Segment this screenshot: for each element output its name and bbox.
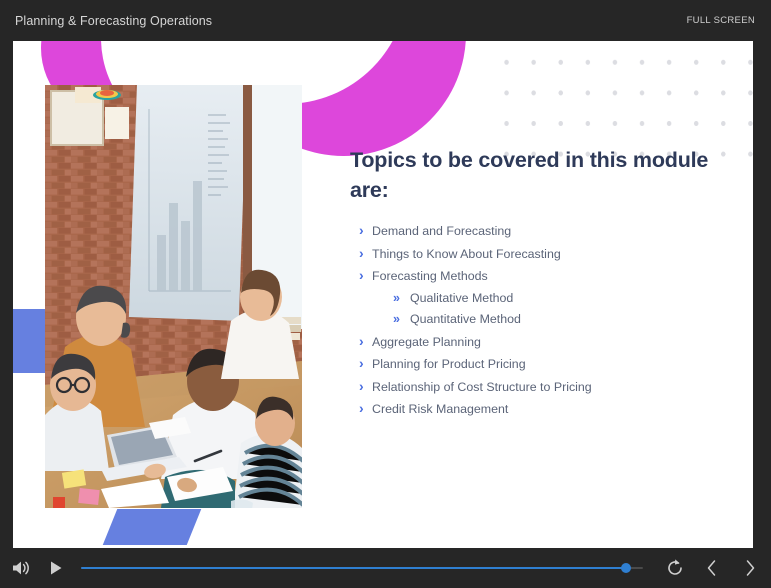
page-title: Planning & Forecasting Operations xyxy=(15,14,212,28)
progress-fill xyxy=(81,567,626,570)
list-item-label: Planning for Product Pricing xyxy=(372,357,526,372)
replay-icon[interactable] xyxy=(663,556,687,580)
player-control-bar xyxy=(0,548,771,588)
slide-title: Topics to be covered in this module are: xyxy=(350,145,720,205)
list-item-label: Aggregate Planning xyxy=(372,335,481,350)
progress-handle[interactable] xyxy=(621,563,631,573)
list-item-label: Demand and Forecasting xyxy=(372,224,511,239)
list-item-label: Quantitative Method xyxy=(410,312,521,327)
double-chevron-right-icon: » xyxy=(384,291,410,306)
fullscreen-button[interactable]: FULL SCREEN xyxy=(687,15,755,26)
list-item-label: Qualitative Method xyxy=(410,291,513,306)
blue-rectangle-decoration xyxy=(13,309,45,373)
chevron-right-icon: › xyxy=(350,356,372,371)
chevron-right-icon: › xyxy=(350,268,372,283)
player-top-bar: Planning & Forecasting Operations FULL S… xyxy=(0,0,771,41)
chevron-right-icon: › xyxy=(350,334,372,349)
list-item-sub: » Quantitative Method xyxy=(384,312,720,327)
list-item: › Forecasting Methods xyxy=(350,268,720,284)
chevron-right-icon: › xyxy=(350,246,372,261)
list-item-label: Credit Risk Management xyxy=(372,402,508,417)
list-item: › Demand and Forecasting xyxy=(350,223,720,239)
double-chevron-right-icon: » xyxy=(384,312,410,327)
list-item: › Credit Risk Management xyxy=(350,401,720,417)
chevron-right-icon: › xyxy=(350,223,372,238)
play-button[interactable] xyxy=(45,557,67,579)
list-item: › Relationship of Cost Structure to Pric… xyxy=(350,379,720,395)
slide-content: Topics to be covered in this module are:… xyxy=(350,145,720,424)
topics-list: › Demand and Forecasting › Things to Kno… xyxy=(350,223,720,417)
chevron-right-icon[interactable] xyxy=(739,556,761,580)
course-player: Planning & Forecasting Operations FULL S… xyxy=(0,0,771,588)
list-item-label: Things to Know About Forecasting xyxy=(372,247,561,262)
slide-canvas: Topics to be covered in this module are:… xyxy=(13,41,753,548)
list-item: › Planning for Product Pricing xyxy=(350,356,720,372)
chevron-left-icon[interactable] xyxy=(701,556,723,580)
list-item-sub: » Qualitative Method xyxy=(384,291,720,306)
photo-illustration xyxy=(45,85,302,508)
progress-slider[interactable] xyxy=(81,560,643,576)
list-item: › Things to Know About Forecasting xyxy=(350,246,720,262)
list-item: › Aggregate Planning xyxy=(350,334,720,350)
team-meeting-photo xyxy=(45,85,302,508)
volume-icon[interactable] xyxy=(9,556,33,580)
chevron-right-icon: › xyxy=(350,379,372,394)
blue-parallelogram-decoration xyxy=(103,509,202,545)
list-item-label: Forecasting Methods xyxy=(372,269,488,284)
chevron-right-icon: › xyxy=(350,401,372,416)
list-item-label: Relationship of Cost Structure to Pricin… xyxy=(372,380,592,395)
